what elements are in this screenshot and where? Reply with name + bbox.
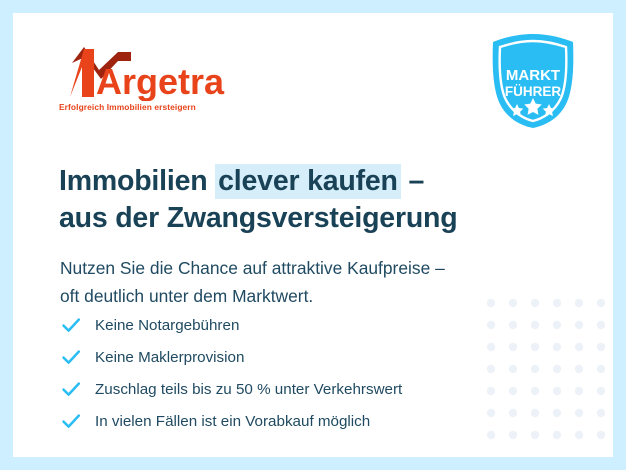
dot — [597, 387, 605, 395]
dot — [575, 365, 583, 373]
dot — [597, 321, 605, 329]
checklist-item: In vielen Fällen ist ein Vorabkauf mögli… — [60, 405, 540, 437]
dot — [553, 365, 561, 373]
ad-card: Argetra Erfolgreich Immobilien ersteiger… — [13, 13, 613, 457]
dot — [597, 299, 605, 307]
check-icon — [60, 314, 82, 336]
logo-wordmark: Argetra — [96, 61, 225, 101]
dot — [553, 409, 561, 417]
argetra-logo-icon: Argetra — [58, 43, 248, 101]
dot — [553, 343, 561, 351]
checklist-item: Keine Notargebühren — [60, 309, 540, 341]
checklist-item-label: In vielen Fällen ist ein Vorabkauf mögli… — [95, 413, 370, 430]
dot — [553, 321, 561, 329]
subheadline-line2: oft deutlich unter dem Marktwert. — [60, 286, 313, 306]
checklist-item-label: Keine Maklerprovision — [95, 349, 244, 366]
brand-logo: Argetra Erfolgreich Immobilien ersteiger… — [58, 43, 248, 121]
dot — [597, 431, 605, 439]
badge-line2: FÜHRER — [505, 84, 561, 99]
dot — [553, 431, 561, 439]
subheadline: Nutzen Sie die Chance auf attraktive Kau… — [60, 254, 560, 310]
headline-line1-post: – — [401, 165, 424, 197]
dot — [575, 343, 583, 351]
checklist-item-label: Keine Notargebühren — [95, 317, 239, 334]
ad-banner: Argetra Erfolgreich Immobilien ersteiger… — [0, 0, 626, 470]
dot — [575, 431, 583, 439]
dot — [597, 343, 605, 351]
checklist-item: Keine Maklerprovision — [60, 341, 540, 373]
dot — [597, 365, 605, 373]
markt-fuehrer-badge: MARKT FÜHRER — [487, 32, 579, 130]
check-icon — [60, 378, 82, 400]
dot — [575, 387, 583, 395]
checklist-item-label: Zuschlag teils bis zu 50 % unter Verkehr… — [95, 381, 402, 398]
check-icon — [60, 346, 82, 368]
headline-highlight: clever kaufen — [215, 164, 401, 199]
dot — [553, 387, 561, 395]
check-icon — [60, 410, 82, 432]
dot — [575, 321, 583, 329]
dot — [575, 299, 583, 307]
logo-tagline: Erfolgreich Immobilien ersteigern — [59, 102, 196, 112]
headline: Immobilien clever kaufen – aus der Zwang… — [59, 163, 579, 237]
dot — [575, 409, 583, 417]
checklist-item: Zuschlag teils bis zu 50 % unter Verkehr… — [60, 373, 540, 405]
badge-line1: MARKT — [506, 67, 560, 84]
dot — [597, 409, 605, 417]
benefits-checklist: Keine NotargebührenKeine Maklerprovision… — [60, 309, 540, 437]
headline-line1-pre: Immobilien — [59, 165, 215, 197]
subheadline-line1: Nutzen Sie die Chance auf attraktive Kau… — [60, 258, 445, 278]
headline-line2: aus der Zwangsversteigerung — [59, 202, 457, 234]
